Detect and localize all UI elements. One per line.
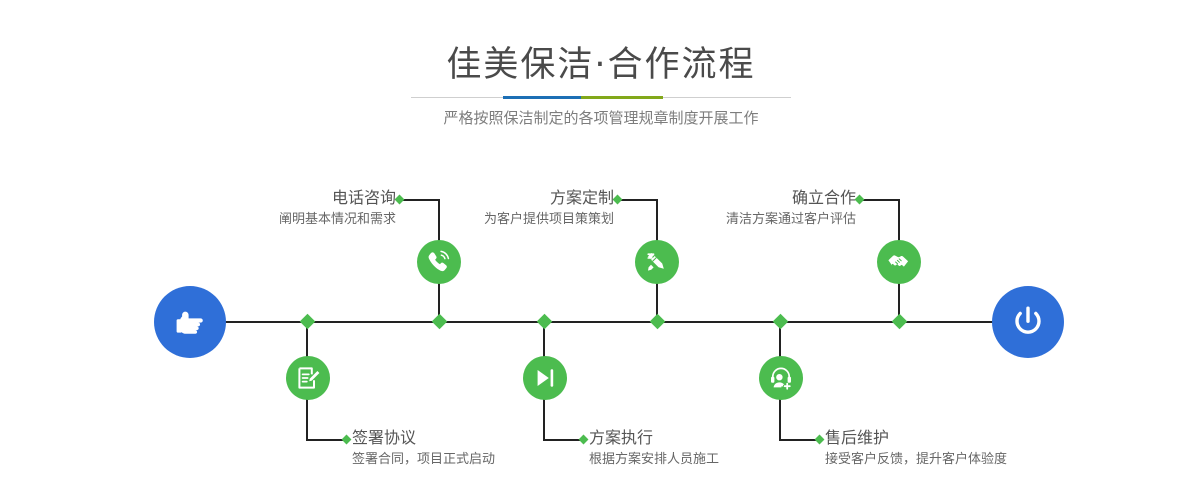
step-desc-top-2: 为客户提供项目策策划 xyxy=(358,210,614,230)
step-node-top-2[interactable] xyxy=(635,240,679,284)
branch-top-3-axis-marker xyxy=(892,314,908,330)
branch-top-1-axis-marker xyxy=(432,314,448,330)
branch-top-1-horizontal xyxy=(402,199,440,201)
branch-bottom-3-horizontal xyxy=(779,439,819,441)
branch-top-3-label-marker xyxy=(855,195,865,205)
customer-service-icon xyxy=(768,365,794,391)
step-label-top-3: 确立合作 清洁方案通过客户评估 xyxy=(600,188,856,230)
sign-document-icon xyxy=(295,365,321,391)
pointing-hand-icon xyxy=(172,304,208,340)
step-desc-top-3: 清洁方案通过客户评估 xyxy=(600,210,856,230)
phone-call-icon xyxy=(426,249,452,275)
handshake-icon xyxy=(886,249,913,276)
step-label-bottom-1: 签署协议 签署合同，项目正式启动 xyxy=(352,428,495,470)
title-divider xyxy=(411,96,791,99)
page-title: 佳美保洁·合作流程 xyxy=(0,36,1202,87)
timeline: 电话咨询 阐明基本情况和需求 方案定制 为客户提供项目策策划 xyxy=(0,140,1202,502)
branch-top-3-horizontal xyxy=(862,199,900,201)
step-node-bottom-1[interactable] xyxy=(286,356,330,400)
step-node-bottom-3[interactable] xyxy=(759,356,803,400)
pencil-edit-icon xyxy=(644,249,670,275)
branch-bottom-3-axis-marker xyxy=(773,314,789,330)
branch-bottom-2-label-marker xyxy=(579,435,589,445)
timeline-start-node[interactable] xyxy=(154,286,226,358)
divider-blue-segment xyxy=(503,96,581,99)
process-flow-infographic: 佳美保洁·合作流程 严格按照保洁制定的各项管理规章制度开展工作 xyxy=(0,0,1202,502)
branch-bottom-1-axis-marker xyxy=(300,314,316,330)
power-icon xyxy=(1009,303,1047,341)
step-title-bottom-1: 签署协议 xyxy=(352,428,495,448)
step-title-bottom-2: 方案执行 xyxy=(589,428,719,448)
step-node-top-3[interactable] xyxy=(877,240,921,284)
step-label-bottom-3: 售后维护 接受客户反馈，提升客户体验度 xyxy=(825,428,1007,470)
divider-green-segment xyxy=(581,96,663,99)
branch-top-2-axis-marker xyxy=(650,314,666,330)
page-subtitle: 严格按照保洁制定的各项管理规章制度开展工作 xyxy=(0,107,1202,128)
step-node-bottom-2[interactable] xyxy=(523,356,567,400)
play-execute-icon xyxy=(532,365,558,391)
step-title-bottom-3: 售后维护 xyxy=(825,428,1007,448)
step-desc-bottom-3: 接受客户反馈，提升客户体验度 xyxy=(825,450,1007,470)
step-label-top-2: 方案定制 为客户提供项目策策划 xyxy=(358,188,614,230)
branch-bottom-2-horizontal xyxy=(543,439,583,441)
header: 佳美保洁·合作流程 严格按照保洁制定的各项管理规章制度开展工作 xyxy=(0,0,1202,140)
branch-bottom-3-label-marker xyxy=(815,435,825,445)
branch-bottom-1-horizontal xyxy=(306,439,346,441)
step-node-top-1[interactable] xyxy=(417,240,461,284)
branch-bottom-2-axis-marker xyxy=(537,314,553,330)
step-title-top-3: 确立合作 xyxy=(600,188,856,208)
branch-top-2-horizontal xyxy=(620,199,658,201)
step-label-bottom-2: 方案执行 根据方案安排人员施工 xyxy=(589,428,719,470)
step-desc-bottom-2: 根据方案安排人员施工 xyxy=(589,450,719,470)
branch-bottom-1-label-marker xyxy=(342,435,352,445)
step-desc-bottom-1: 签署合同，项目正式启动 xyxy=(352,450,495,470)
timeline-end-node[interactable] xyxy=(992,286,1064,358)
